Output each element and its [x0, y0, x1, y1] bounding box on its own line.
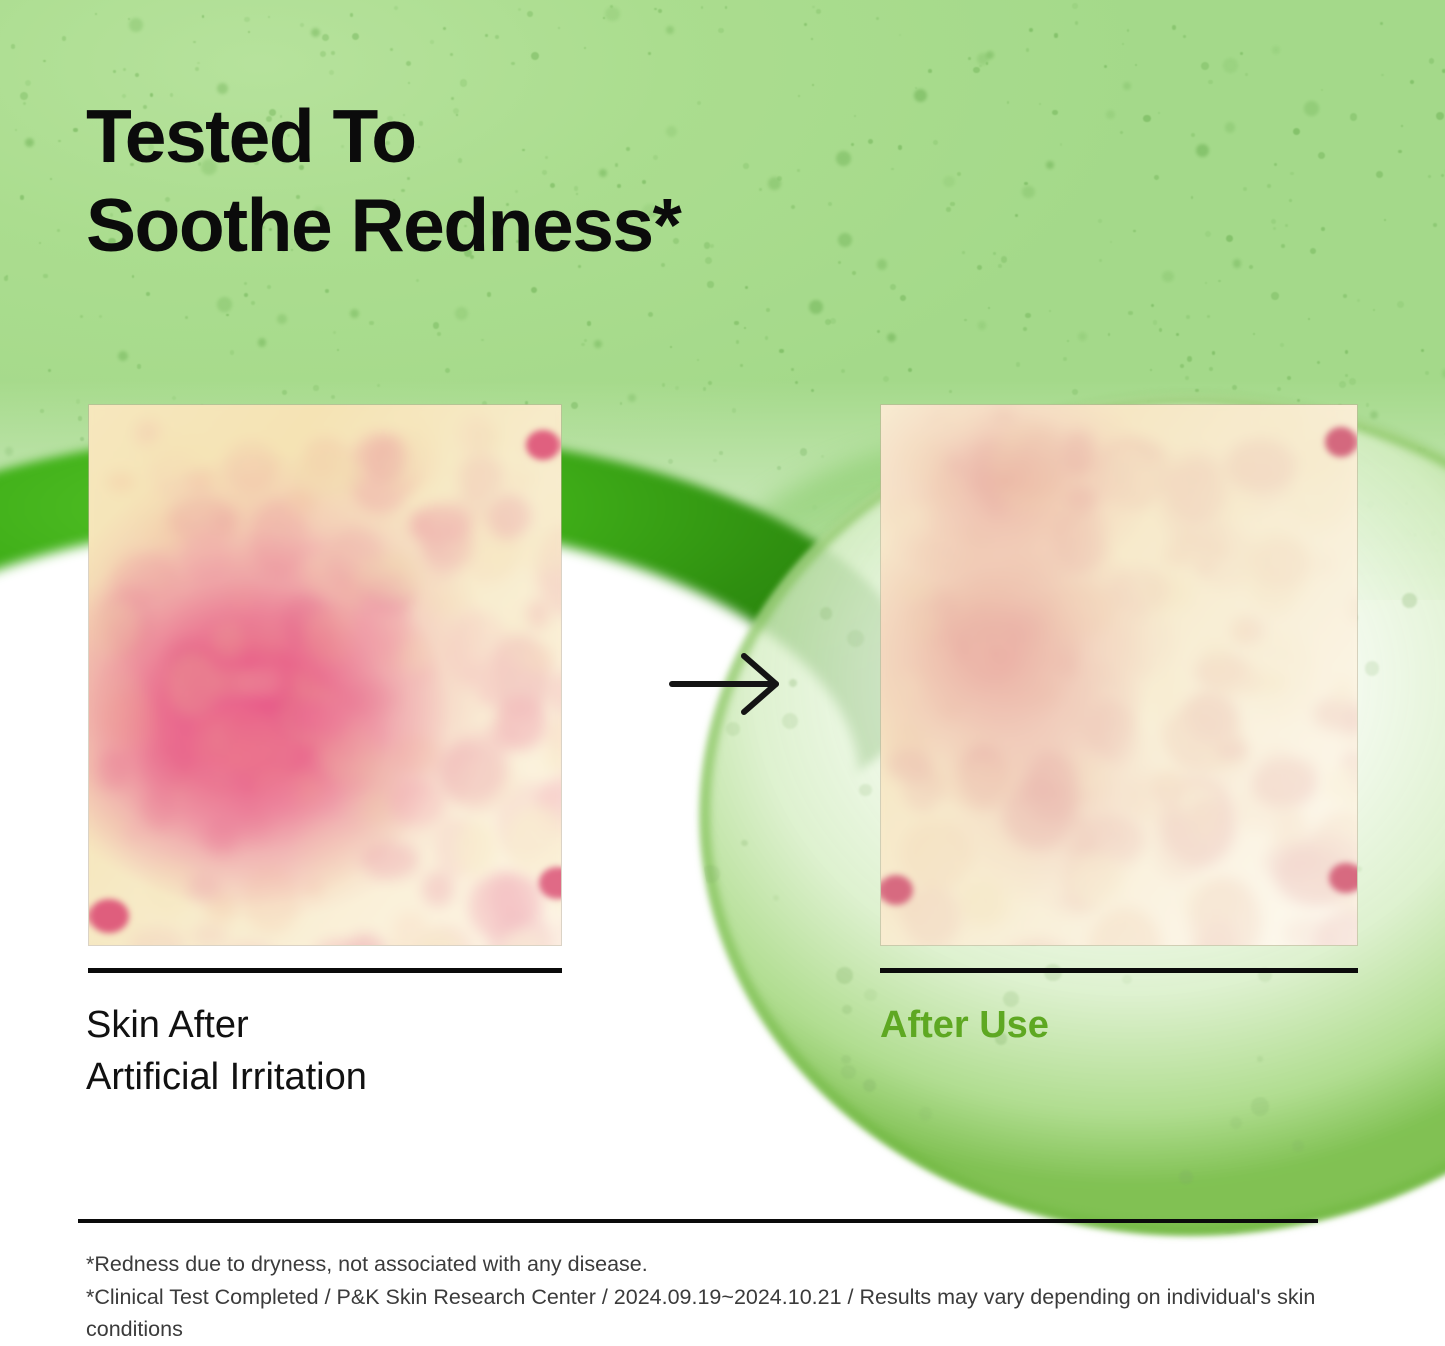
after-photo-softening — [881, 405, 1357, 945]
promo-image-root: Tested To Soothe Redness* Skin After Art… — [0, 0, 1445, 1346]
before-photo-softening — [89, 405, 561, 945]
footnote-text: *Redness due to dryness, not associated … — [86, 1248, 1376, 1346]
before-photo — [88, 404, 562, 946]
page-title: Tested To Soothe Redness* — [86, 92, 680, 269]
after-caption-rule — [880, 968, 1358, 973]
footer-divider — [78, 1219, 1318, 1223]
after-caption: After Use — [880, 1000, 1049, 1052]
arrow-right-icon — [668, 648, 788, 720]
before-caption-rule — [88, 968, 562, 973]
before-caption: Skin After Artificial Irritation — [86, 1000, 367, 1103]
after-photo — [880, 404, 1358, 946]
